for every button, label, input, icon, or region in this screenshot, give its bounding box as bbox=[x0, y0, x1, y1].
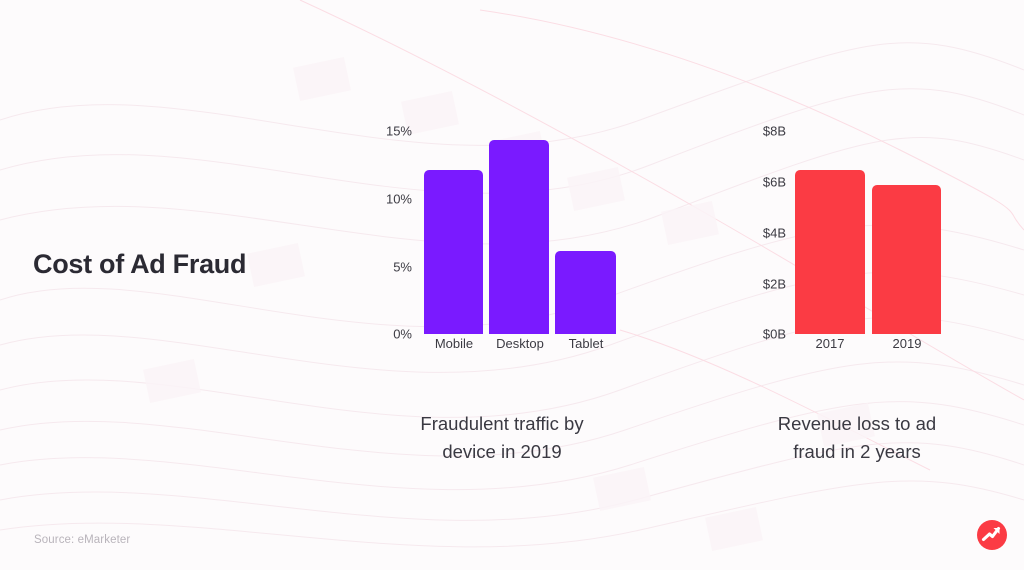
chart-1-plot-area: 15% 10% 5% 0% Mobile Desktop Tablet bbox=[368, 120, 638, 365]
x-axis-label: Mobile bbox=[435, 336, 473, 351]
chart-2-plot-area: $8B $6B $4B $2B $0B 2017 2019 bbox=[742, 120, 972, 365]
chart-revenue-loss-to-ad-fraud: $8B $6B $4B $2B $0B 2017 2019 bbox=[742, 120, 972, 365]
x-axis-label: 2019 bbox=[893, 336, 922, 351]
y-axis-tick: $0B bbox=[763, 327, 786, 342]
chart-1-caption: Fraudulent traffic by device in 2019 bbox=[357, 410, 647, 466]
page-title: Cost of Ad Fraud bbox=[33, 249, 246, 280]
y-axis-tick: 15% bbox=[386, 124, 412, 139]
x-axis-label: Desktop bbox=[496, 336, 544, 351]
infographic-slide: Cost of Ad Fraud 15% 10% 5% 0% Mobile De… bbox=[0, 0, 1024, 570]
y-axis-tick: $6B bbox=[763, 175, 786, 190]
red-circle-arrow-logo-icon bbox=[976, 519, 1008, 551]
chart-1-bars bbox=[424, 120, 620, 334]
bar-mobile bbox=[424, 170, 483, 334]
chart-2-x-axis: 2017 2019 bbox=[795, 336, 943, 358]
bar-desktop bbox=[489, 140, 549, 334]
y-axis-tick: $4B bbox=[763, 226, 786, 241]
y-axis-tick: $2B bbox=[763, 277, 786, 292]
chart-2-caption-line-1: Revenue loss to ad bbox=[712, 410, 1002, 438]
y-axis-tick: 0% bbox=[393, 327, 412, 342]
chart-fraudulent-traffic-by-device: 15% 10% 5% 0% Mobile Desktop Tablet bbox=[368, 120, 638, 365]
source-note: Source: eMarketer bbox=[34, 534, 130, 546]
chart-1-caption-line-1: Fraudulent traffic by bbox=[357, 410, 647, 438]
y-axis-tick: 5% bbox=[393, 260, 412, 275]
chart-1-caption-line-2: device in 2019 bbox=[357, 438, 647, 466]
y-axis-tick: 10% bbox=[386, 192, 412, 207]
chart-2-bars bbox=[795, 120, 943, 334]
chart-2-y-axis: $8B $6B $4B $2B $0B bbox=[742, 120, 786, 365]
bar-2019 bbox=[872, 185, 941, 334]
chart-2-caption: Revenue loss to ad fraud in 2 years bbox=[712, 410, 1002, 466]
y-axis-tick: $8B bbox=[763, 124, 786, 139]
x-axis-label: Tablet bbox=[569, 336, 604, 351]
x-axis-label: 2017 bbox=[816, 336, 845, 351]
chart-1-x-axis: Mobile Desktop Tablet bbox=[424, 336, 620, 358]
chart-2-caption-line-2: fraud in 2 years bbox=[712, 438, 1002, 466]
bar-2017 bbox=[795, 170, 865, 334]
bar-tablet bbox=[555, 251, 616, 334]
chart-1-y-axis: 15% 10% 5% 0% bbox=[368, 120, 412, 365]
